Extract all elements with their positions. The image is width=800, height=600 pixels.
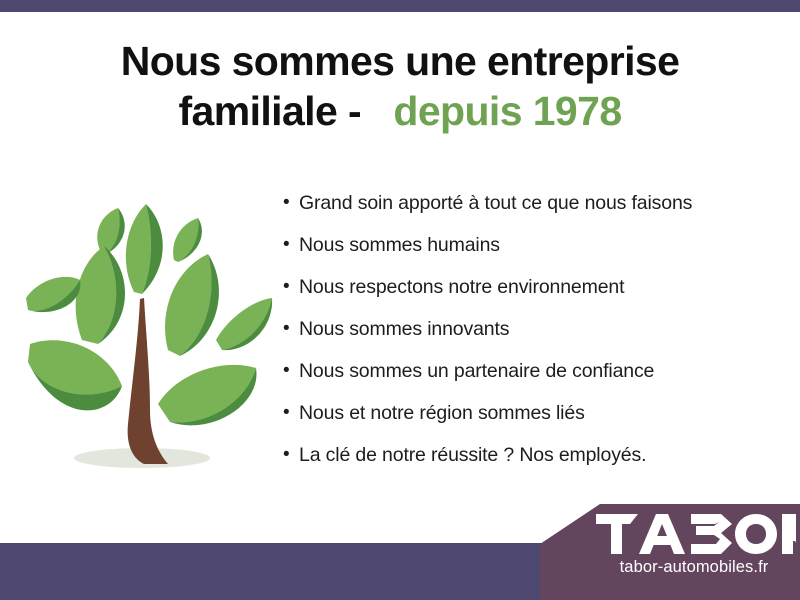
bullet-text: Nous sommes un partenaire de confiance [299,358,654,384]
title-line-2: familiale - depuis 1978 [40,86,760,136]
bullet-text: Grand soin apporté à tout ce que nous fa… [299,190,692,216]
bullet-text: Nous sommes humains [299,232,500,258]
bullet-marker-icon: • [283,316,299,342]
list-item: • Nous respectons notre environnement [283,274,783,316]
bullet-text: La clé de notre réussite ? Nos employés. [299,442,646,468]
bullet-marker-icon: • [283,274,299,300]
list-item: • Grand soin apporté à tout ce que nous … [283,190,783,232]
leaf-upper-right [165,254,219,356]
bullet-text: Nous sommes innovants [299,316,509,342]
leaf-lower-left [28,340,122,410]
bullet-marker-icon: • [283,232,299,258]
leaf-top-left-small [97,208,125,254]
top-accent-bar [0,0,800,12]
list-item: • Nous et notre région sommes liés [283,400,783,442]
bullet-marker-icon: • [283,358,299,384]
tree-trunk [128,298,168,464]
title-line-2-accent: depuis 1978 [393,88,621,134]
bullet-marker-icon: • [283,400,299,426]
leaf-right-small [216,298,272,350]
bullet-marker-icon: • [283,442,299,468]
tree-illustration [22,192,278,488]
leaf-left-small [26,277,80,312]
bullet-text: Nous respectons notre environnement [299,274,624,300]
bullet-list: • Grand soin apporté à tout ce que nous … [283,190,783,484]
title-line-2-plain: familiale - [178,88,361,134]
list-item: • Nous sommes un partenaire de confiance [283,358,783,400]
logo-url-text: tabor-automobiles.fr [596,558,792,577]
bullet-text: Nous et notre région sommes liés [299,400,585,426]
slide-canvas: Nous sommes une entreprise familiale - d… [0,0,800,600]
tabor-logo-wordmark [596,512,796,556]
slide-title: Nous sommes une entreprise familiale - d… [40,36,760,136]
leaf-top-center [126,204,163,294]
list-item: • La clé de notre réussite ? Nos employé… [283,442,783,484]
leaf-top-right-small [173,218,202,262]
list-item: • Nous sommes innovants [283,316,783,358]
title-line-1: Nous sommes une entreprise [40,36,760,86]
leaf-lower-right [158,365,256,426]
leaf-upper-left [76,246,125,344]
bullet-marker-icon: • [283,190,299,216]
list-item: • Nous sommes humains [283,232,783,274]
